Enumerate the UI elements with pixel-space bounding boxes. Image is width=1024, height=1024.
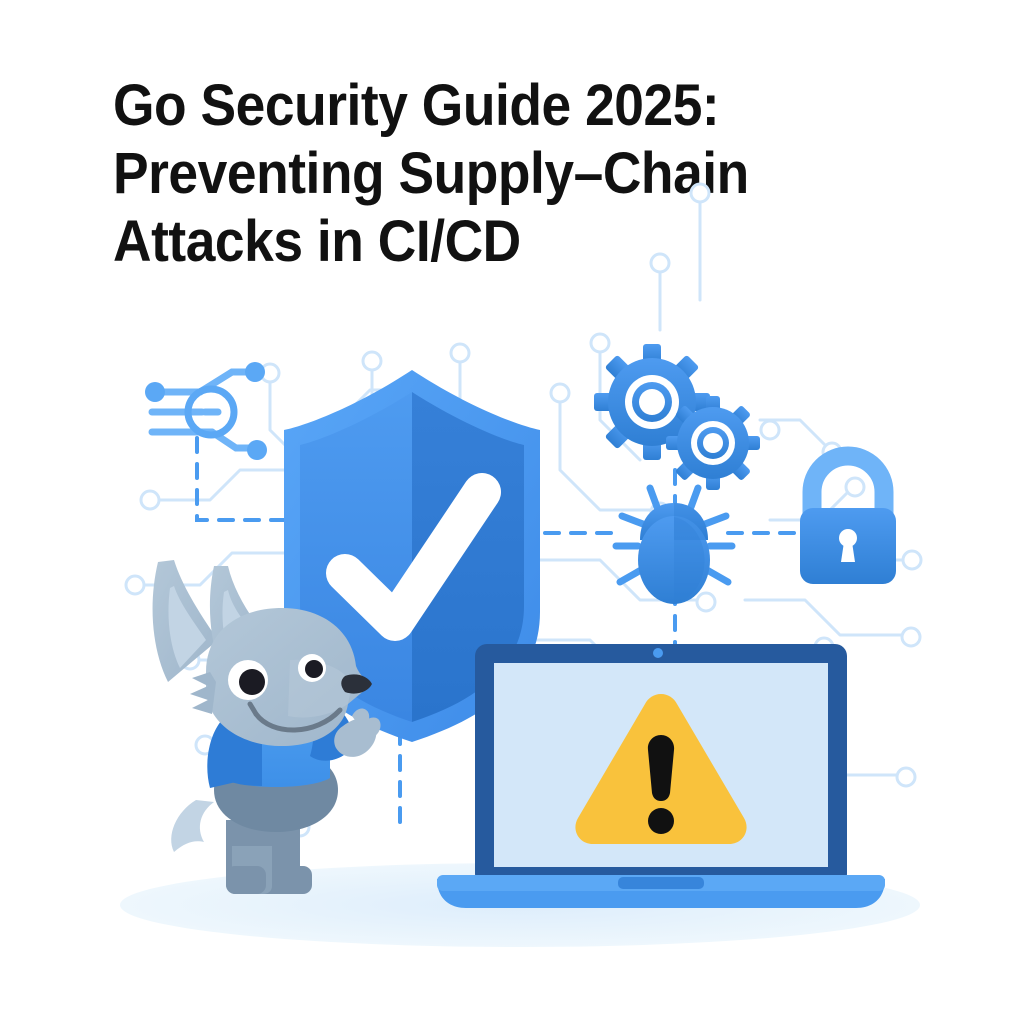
laptop-trackpad-notch [618, 877, 704, 889]
hero-illustration [0, 0, 1024, 1024]
laptop-warning [437, 644, 885, 908]
warning-exclamation-dot [648, 808, 674, 834]
mascot-cheek-fur [190, 672, 216, 714]
laptop-webcam-icon [653, 648, 663, 658]
warning-exclamation-bar [648, 735, 674, 801]
gears-icon [594, 344, 760, 490]
lock-icon [800, 456, 896, 584]
bug-icon [616, 488, 732, 604]
mascot-tail [171, 800, 214, 852]
poster-canvas: Go Security Guide 2025: Preventing Suppl… [0, 0, 1024, 1024]
